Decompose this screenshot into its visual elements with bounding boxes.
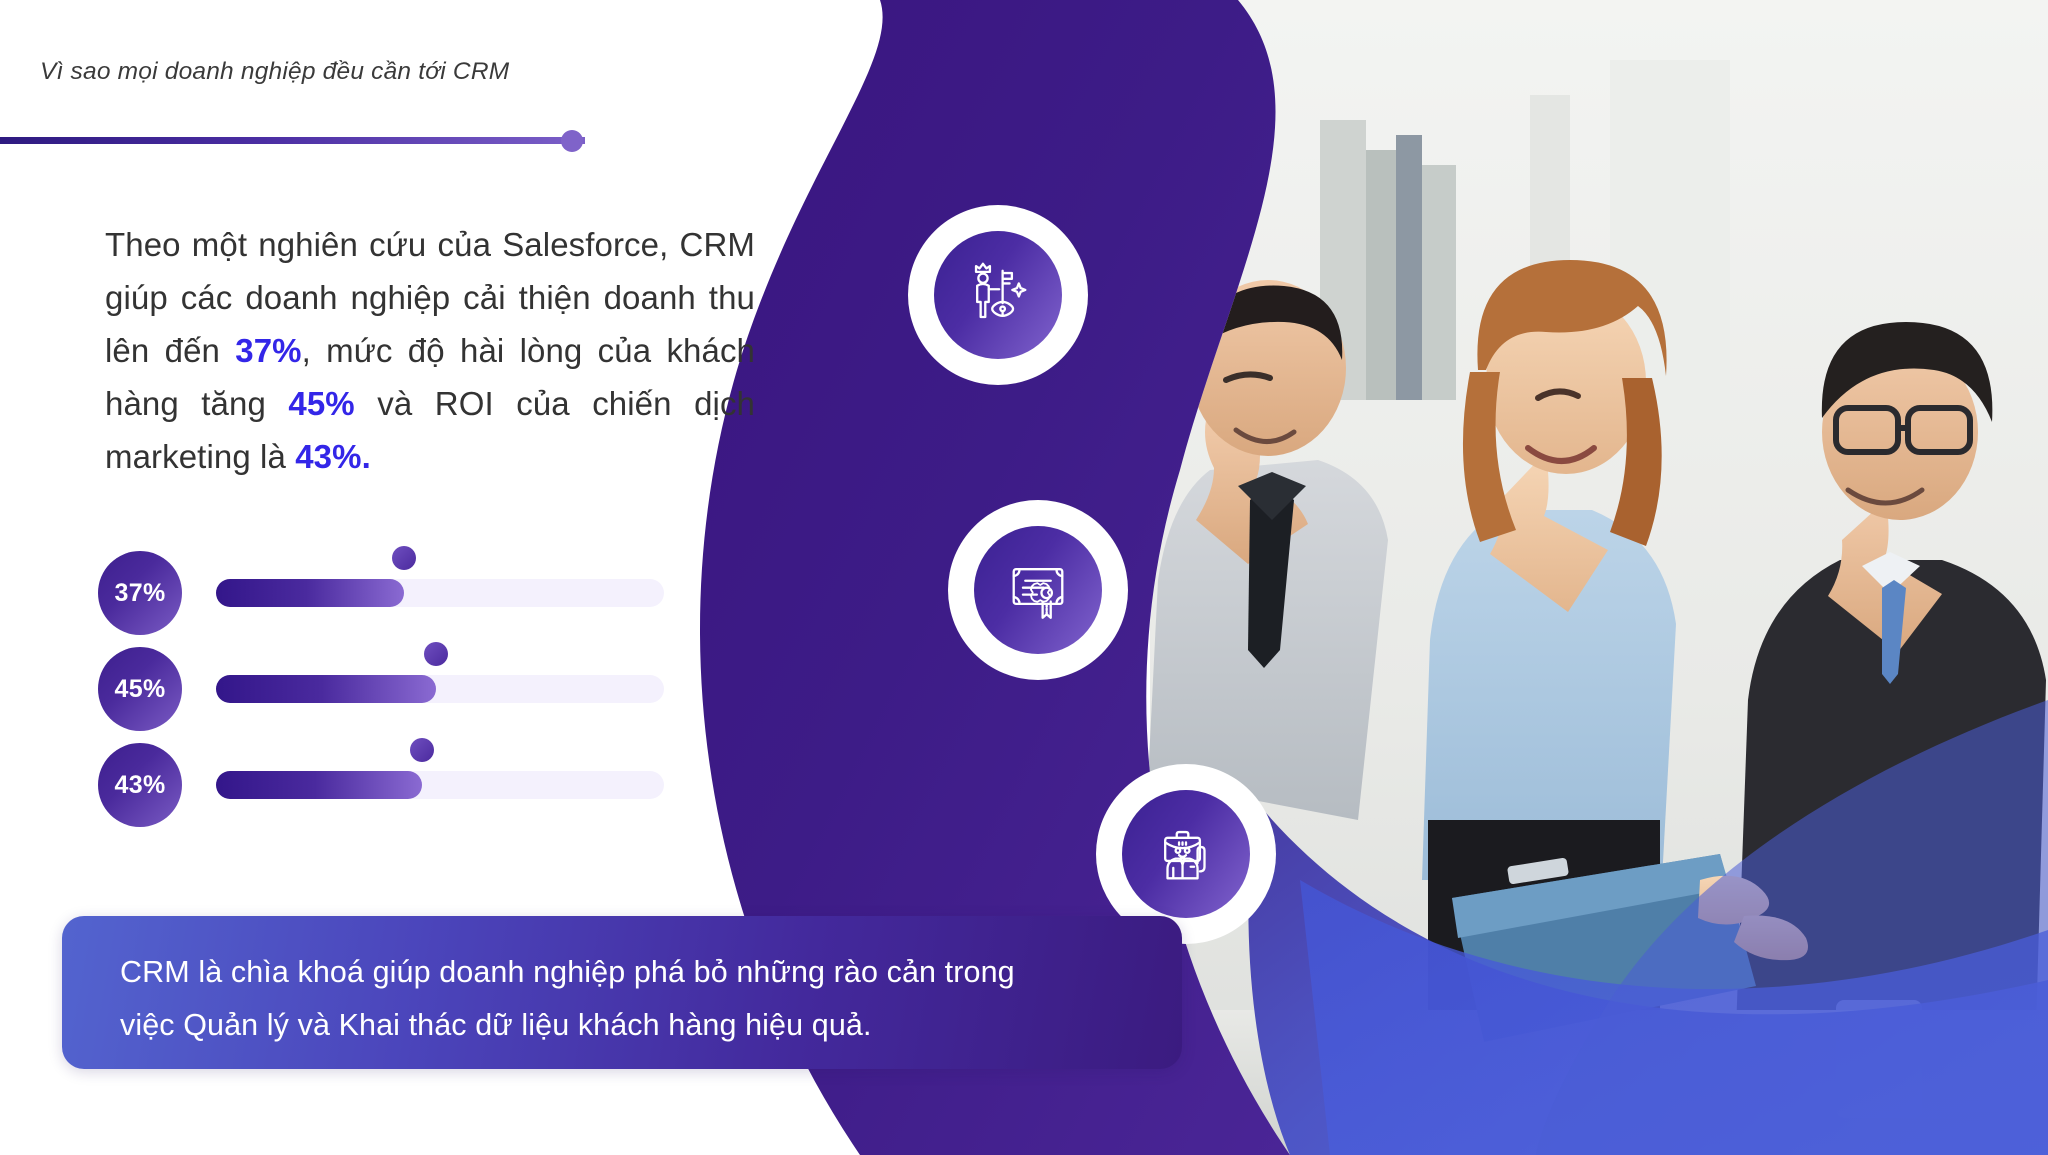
summary-banner: CRM là chìa khoá giúp doanh nghiệp phá b…: [62, 916, 1182, 1069]
bar-fill: [216, 579, 404, 607]
bar-badge: 45%: [98, 647, 182, 731]
stat-37: 37%: [235, 332, 301, 369]
bar-badge: 43%: [98, 743, 182, 827]
certificate-icon: [1001, 553, 1075, 627]
bar-fill: [216, 675, 436, 703]
businessperson-briefcase-icon: [1149, 817, 1223, 891]
bar-row: 43%: [98, 737, 718, 833]
bar-track[interactable]: [216, 579, 664, 607]
header-divider: [0, 137, 585, 144]
summary-line-1: CRM là chìa khoá giúp doanh nghiệp phá b…: [120, 946, 1120, 999]
bar-track[interactable]: [216, 675, 664, 703]
king-with-key-icon: [961, 258, 1035, 332]
bar-knob[interactable]: [410, 738, 434, 762]
bar-fill: [216, 771, 422, 799]
bar-knob[interactable]: [424, 642, 448, 666]
stat-45: 45%: [288, 385, 354, 422]
icon-circle-2[interactable]: [948, 500, 1128, 680]
page-title: Vì sao mọi doanh nghiệp đều cần tới CRM: [40, 58, 660, 86]
bar-row: 37%: [98, 545, 718, 641]
summary-line-2: việc Quản lý và Khai thác dữ liệu khách …: [120, 999, 1120, 1052]
stats-bar-chart: 37% 45% 43%: [98, 545, 718, 833]
header: Vì sao mọi doanh nghiệp đều cần tới CRM: [40, 58, 660, 86]
slide-canvas: Vì sao mọi doanh nghiệp đều cần tới CRM …: [0, 0, 2048, 1155]
stat-43: 43%.: [295, 438, 371, 475]
header-divider-dot: [561, 130, 583, 152]
bar-badge: 37%: [98, 551, 182, 635]
icon-circle-1[interactable]: [908, 205, 1088, 385]
bar-knob[interactable]: [392, 546, 416, 570]
intro-paragraph: Theo một nghiên cứu của Salesforce, CRM …: [105, 218, 755, 483]
bar-track[interactable]: [216, 771, 664, 799]
summary-banner-text: CRM là chìa khoá giúp doanh nghiệp phá b…: [120, 946, 1120, 1052]
bar-row: 45%: [98, 641, 718, 737]
